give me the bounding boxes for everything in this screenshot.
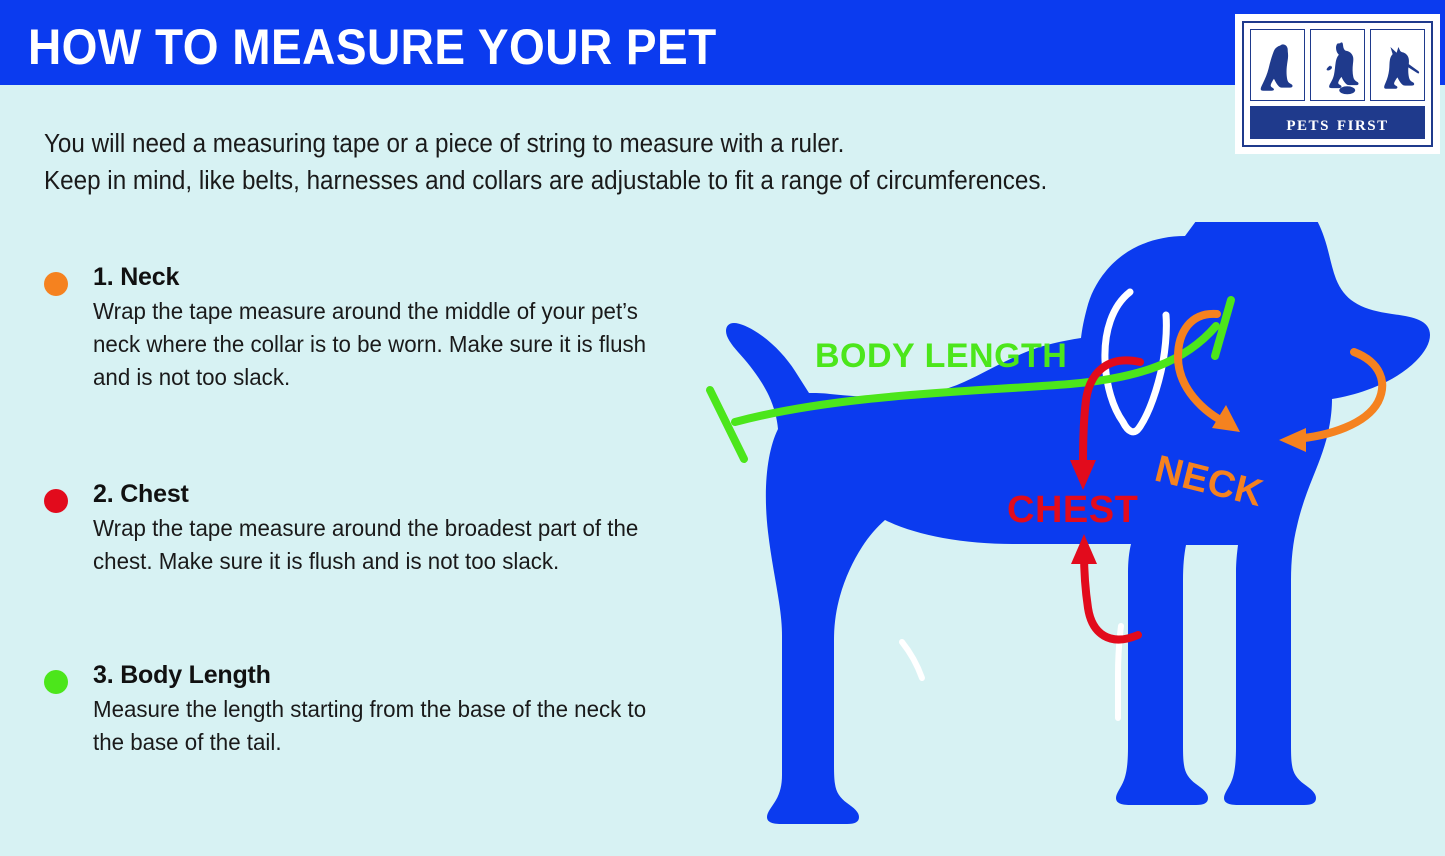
- step-title-chest: 2. Chest: [93, 479, 664, 510]
- bullet-neck-icon: [44, 272, 68, 296]
- step-item-body-length: 3. Body Length Measure the length starti…: [44, 660, 664, 759]
- intro-line-2: Keep in mind, like belts, harnesses and …: [44, 163, 1213, 200]
- body-length-label: BODY LENGTH: [815, 337, 1067, 375]
- step-title-neck: 1. Neck: [93, 262, 664, 293]
- logo-wordmark: Pets First: [1286, 112, 1388, 134]
- measurement-steps-list: 1. Neck Wrap the tape measure around the…: [44, 262, 664, 758]
- step-item-chest: 2. Chest Wrap the tape measure around th…: [44, 479, 664, 578]
- front-leg-separation: [902, 626, 1121, 718]
- sitting-shepherd-silhouette-icon: [1370, 29, 1425, 101]
- logo-figure-row: [1250, 29, 1425, 101]
- bullet-chest-icon: [44, 489, 68, 513]
- step-body-chest: Wrap the tape measure around the broades…: [93, 512, 647, 577]
- logo-banner: Pets First: [1250, 106, 1425, 139]
- step-body-body-length: Measure the length starting from the bas…: [93, 693, 647, 758]
- step-item-neck: 1. Neck Wrap the tape measure around the…: [44, 262, 664, 393]
- howling-dog-silhouette-icon: [1310, 29, 1365, 101]
- intro-line-1: You will need a measuring tape or a piec…: [44, 126, 1213, 163]
- page-title: HOW TO MEASURE YOUR PET: [28, 18, 717, 76]
- step-title-body-length: 3. Body Length: [93, 660, 664, 691]
- dog-measurement-diagram: BODY LENGTH NECK CHEST: [640, 222, 1445, 856]
- step-body-neck: Wrap the tape measure around the middle …: [93, 295, 647, 393]
- sitting-dog-silhouette-icon: [1250, 29, 1305, 101]
- intro-text: You will need a measuring tape or a piec…: [44, 126, 1274, 200]
- bullet-body-length-icon: [44, 670, 68, 694]
- chest-label: CHEST: [1007, 489, 1138, 531]
